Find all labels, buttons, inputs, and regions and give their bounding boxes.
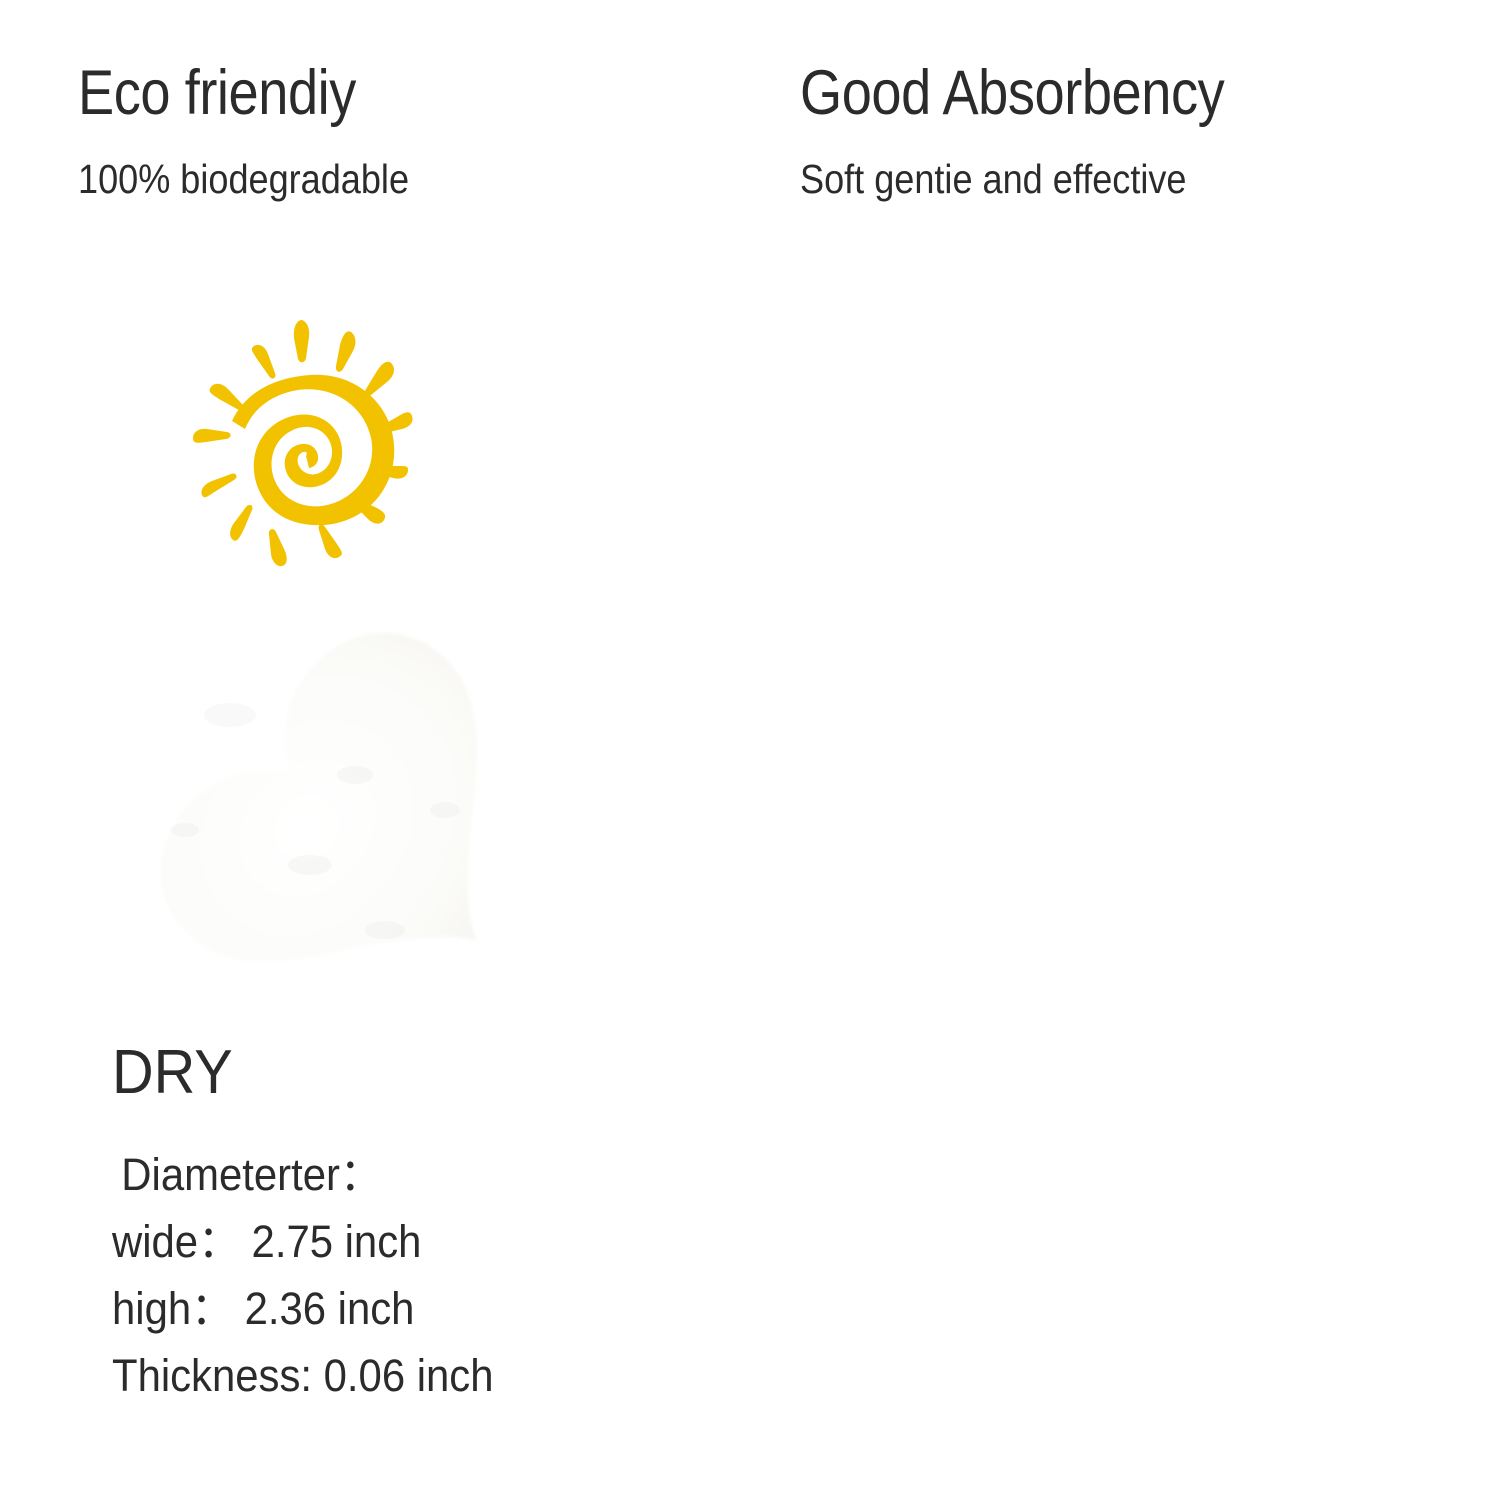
right-heading-block: Good Absorbency Soft gentie and effectiv… <box>800 62 1293 200</box>
dry-spec-wide: wide： 2.75 inch <box>112 1219 494 1264</box>
dry-spec-high: high： 2.36 inch <box>112 1286 494 1331</box>
column-eco-friendly: Eco friendiy 100% biodegradable <box>0 0 750 1500</box>
left-title: Eco friendiy <box>78 62 401 125</box>
dry-spec-block: DRY Diameterter： wide： 2.75 inch high： 2… <box>112 1042 522 1398</box>
dry-sponge-image <box>55 600 635 1050</box>
left-heading-block: Eco friendiy 100% biodegradable <box>78 62 454 200</box>
left-subtitle: 100% biodegradable <box>78 159 409 200</box>
product-infographic: Eco friendiy 100% biodegradable <box>0 0 1500 1500</box>
column-good-absorbency: Good Absorbency Soft gentie and effectiv… <box>750 0 1500 1500</box>
right-subtitle: Soft gentie and effective <box>800 159 1234 200</box>
dry-spec-thickness: Thickness: 0.06 inch <box>112 1353 494 1398</box>
right-title: Good Absorbency <box>800 62 1224 125</box>
sun-icon <box>188 308 418 583</box>
dry-diameter-heading: Diameterter： <box>112 1152 494 1197</box>
dry-state-label: DRY <box>112 1042 494 1104</box>
